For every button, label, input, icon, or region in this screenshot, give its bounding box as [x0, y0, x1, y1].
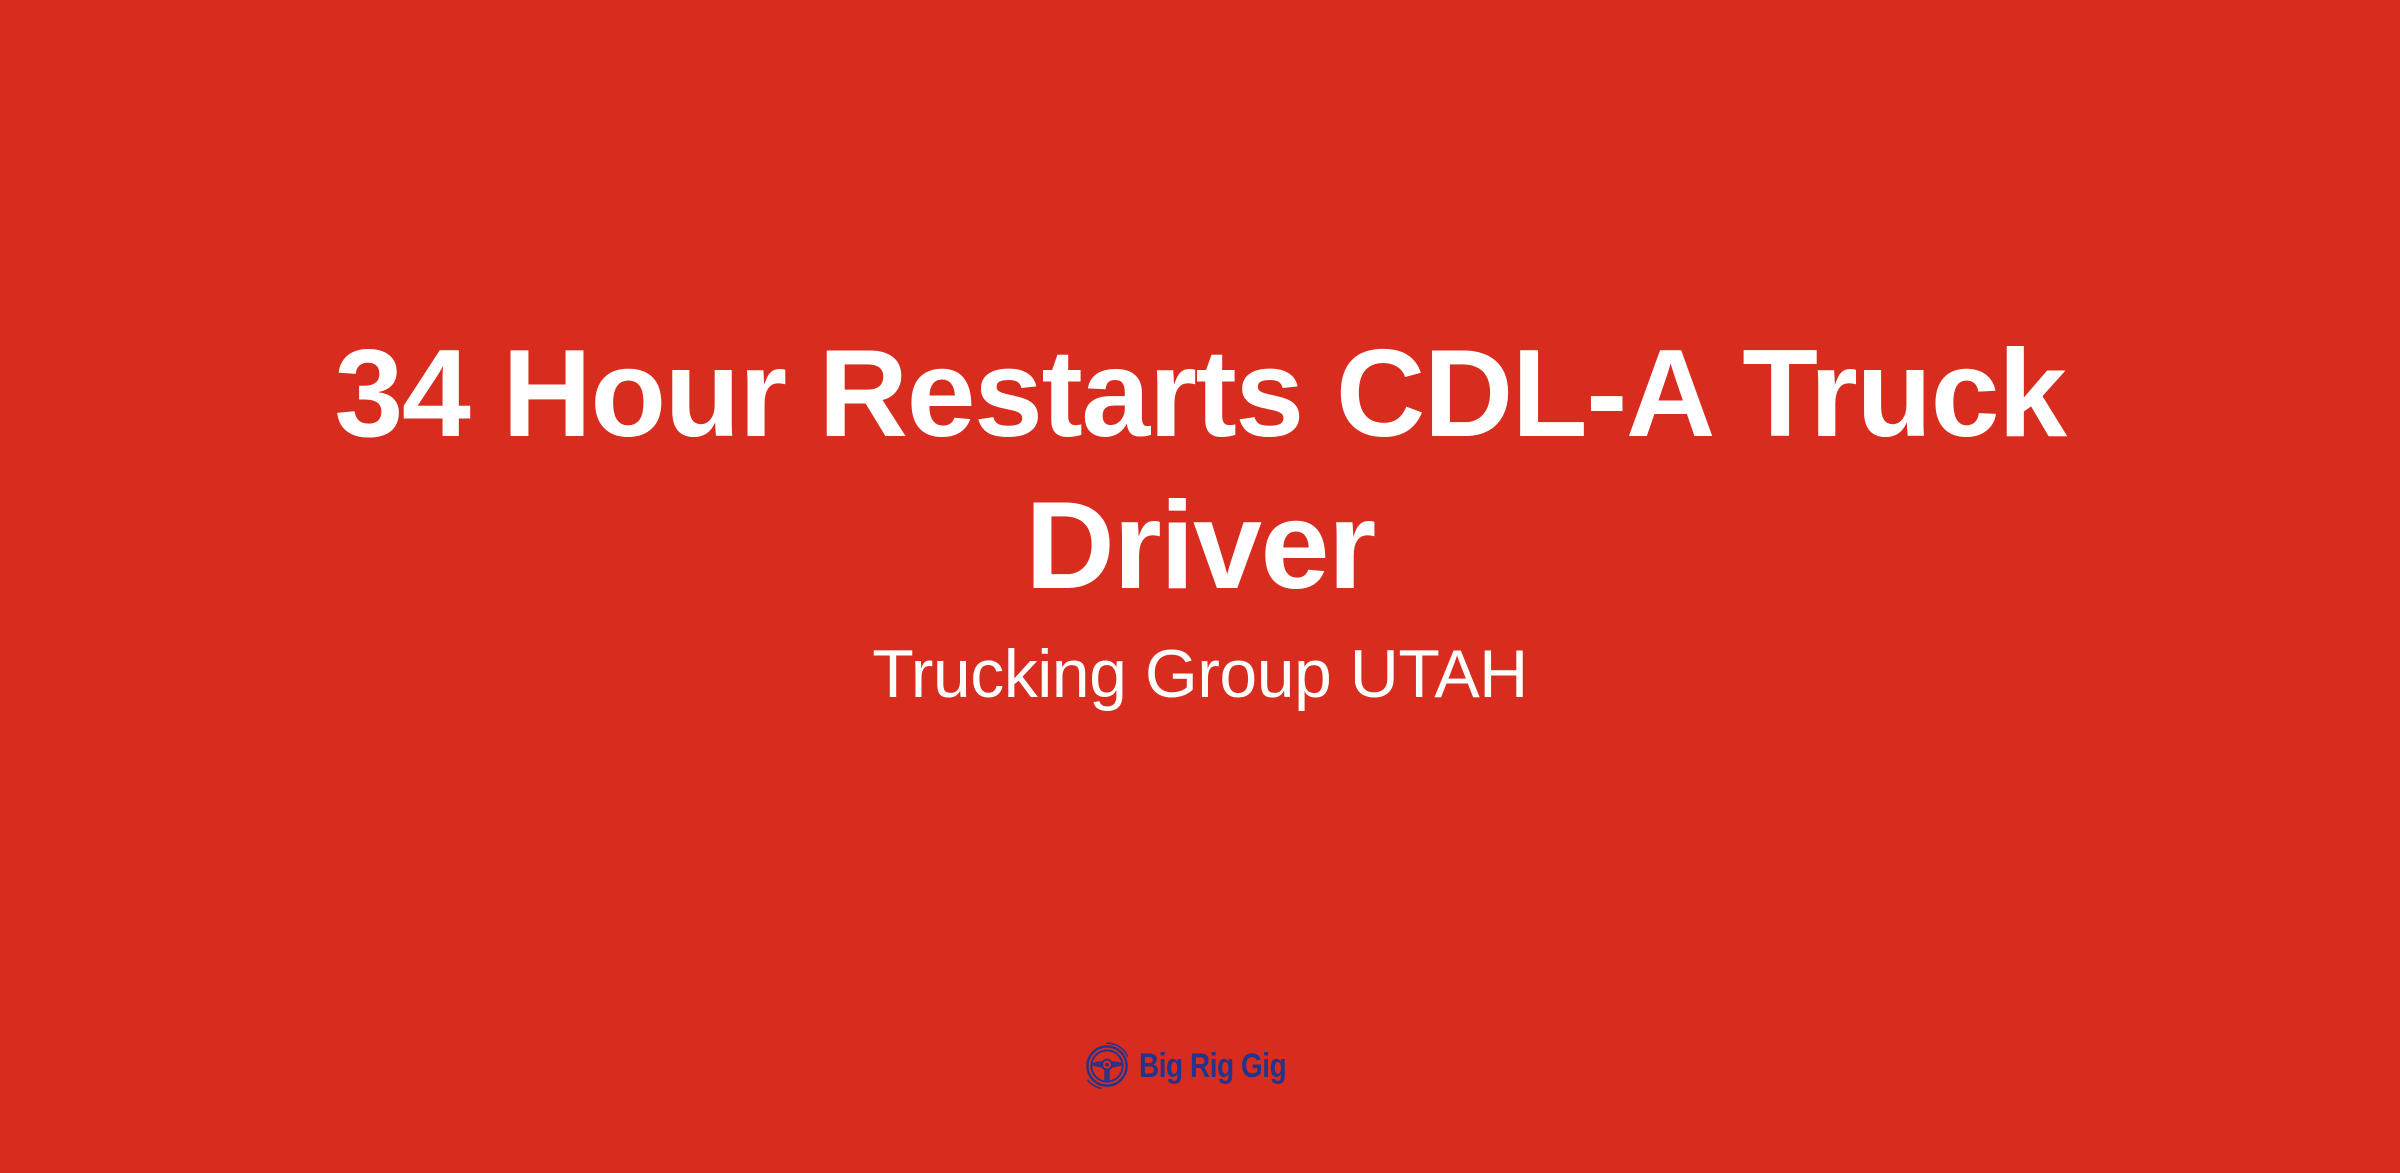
page-title: 34 Hour Restarts CDL-A Truck Driver — [200, 318, 2200, 622]
slide-canvas: 34 Hour Restarts CDL-A Truck Driver Truc… — [0, 0, 2400, 1173]
footer-logo[interactable]: Big Rig Gig — [0, 1038, 2400, 1094]
page-subtitle: Trucking Group UTAH — [200, 622, 2200, 716]
hero-text-block: 34 Hour Restarts CDL-A Truck Driver Truc… — [0, 318, 2400, 716]
steering-wheel-icon — [1081, 1040, 1133, 1092]
logo-wordmark: Big Rig Gig — [1139, 1049, 1286, 1083]
